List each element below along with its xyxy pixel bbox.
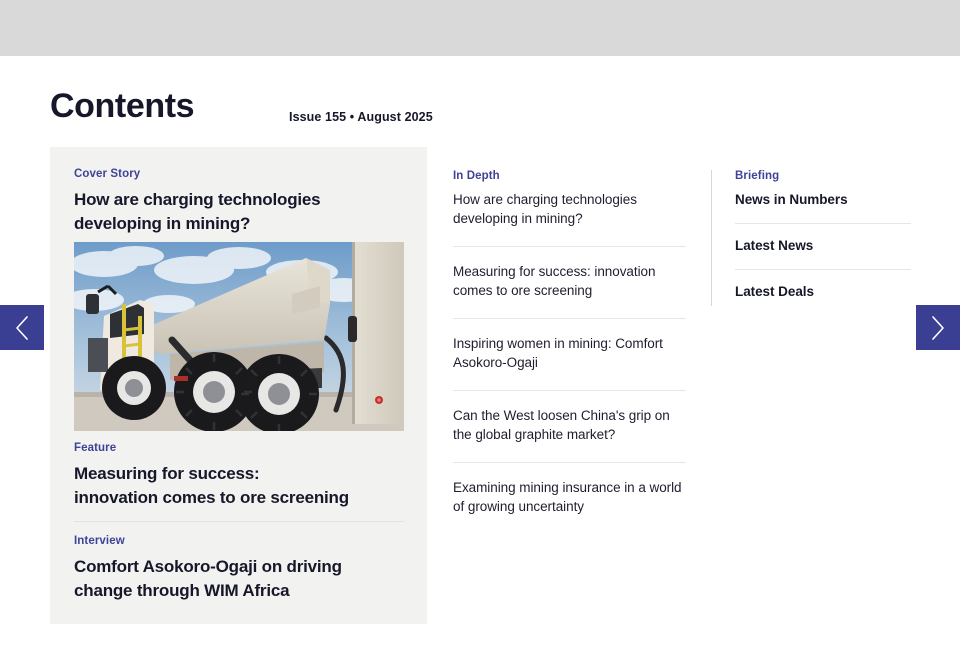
column-divider xyxy=(711,170,712,306)
in-depth-column: In Depth How are charging technologies d… xyxy=(453,170,686,516)
list-item[interactable]: How are charging technologies developing… xyxy=(453,191,686,247)
interview-headline[interactable]: Comfort Asokoro-Ogaji on driving change … xyxy=(74,555,404,603)
cover-story-image[interactable] xyxy=(74,242,404,431)
cover-story-headline[interactable]: How are charging technologies developing… xyxy=(74,188,404,236)
feature-headline[interactable]: Measuring for success: innovation comes … xyxy=(74,462,404,510)
list-item[interactable]: Inspiring women in mining: Comfort Asoko… xyxy=(453,335,686,391)
page-header: Contents Issue 155 • August 2025 xyxy=(50,86,910,132)
list-item[interactable]: Examining mining insurance in a world of… xyxy=(453,479,686,516)
briefing-kicker: Briefing xyxy=(735,170,911,182)
interview-block[interactable]: Interview Comfort Asokoro-Ogaji on drivi… xyxy=(74,535,404,603)
feature-kicker: Feature xyxy=(74,442,404,454)
list-item[interactable]: Latest Deals xyxy=(735,283,911,315)
cover-story-kicker: Cover Story xyxy=(74,168,404,180)
top-bar xyxy=(0,0,960,56)
chevron-right-icon xyxy=(930,315,946,341)
issue-label: Issue 155 • August 2025 xyxy=(289,110,433,124)
in-depth-kicker: In Depth xyxy=(453,170,686,182)
next-page-button[interactable] xyxy=(916,305,960,350)
chevron-left-icon xyxy=(14,315,30,341)
list-item[interactable]: Can the West loosen China's grip on the … xyxy=(453,407,686,463)
interview-divider xyxy=(74,521,404,522)
previous-page-button[interactable] xyxy=(0,305,44,350)
feature-block[interactable]: Feature Measuring for success: innovatio… xyxy=(74,442,404,510)
list-item[interactable]: News in Numbers xyxy=(735,191,911,224)
briefing-column: Briefing News in Numbers Latest News Lat… xyxy=(735,170,911,328)
list-item[interactable]: Latest News xyxy=(735,237,911,270)
interview-kicker: Interview xyxy=(74,535,404,547)
page-title: Contents xyxy=(50,86,194,126)
cover-story-text[interactable]: Cover Story How are charging technologie… xyxy=(74,168,404,236)
list-item[interactable]: Measuring for success: innovation comes … xyxy=(453,263,686,319)
